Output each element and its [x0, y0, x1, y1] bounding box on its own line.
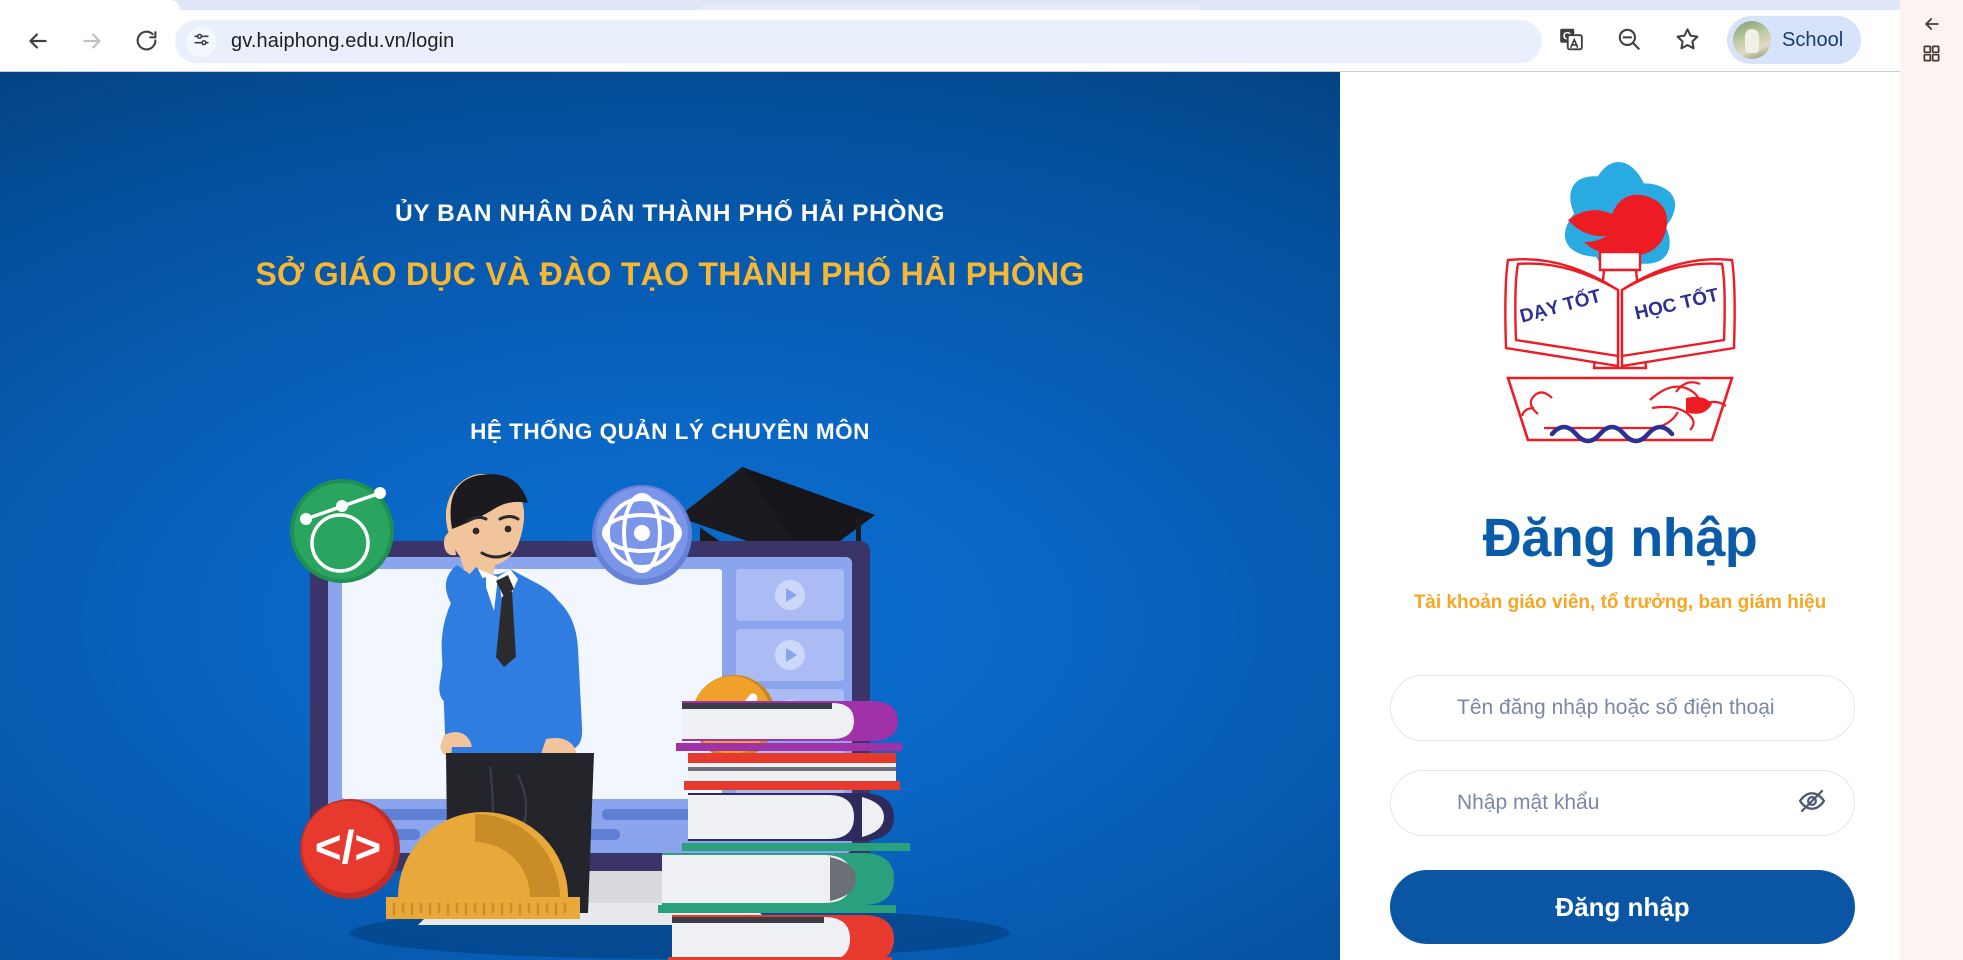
site-info-button[interactable] — [186, 27, 216, 57]
tune-sliders-icon — [192, 30, 211, 54]
username-input[interactable] — [1391, 696, 1854, 720]
profile-button[interactable]: School — [1727, 16, 1861, 64]
apps-grid-icon — [1922, 44, 1941, 68]
hero-panel: ỦY BAN NHÂN DÂN THÀNH PHỐ HẢI PHÒNG SỞ G… — [0, 72, 1340, 960]
tab-strip — [0, 0, 1900, 10]
omnibox-actions: G — [1542, 20, 1716, 63]
side-panel-apps-button[interactable] — [1914, 38, 1950, 74]
arrow-right-icon — [79, 28, 105, 54]
login-submit-button[interactable]: Đăng nhập — [1390, 870, 1855, 944]
zoom-out-button[interactable] — [1607, 20, 1651, 64]
translate-icon: G — [1558, 26, 1584, 57]
address-bar[interactable]: gv.haiphong.edu.vn/login — [175, 20, 1542, 63]
toggle-password-visibility-button[interactable] — [1788, 779, 1836, 827]
bookmark-button[interactable] — [1665, 20, 1709, 64]
arrow-left-icon — [25, 28, 51, 54]
gdhp-emblem: DẠY TỐT HỌC TỐT — [1500, 152, 1740, 452]
password-field-wrapper[interactable] — [1390, 770, 1855, 836]
avatar — [1733, 21, 1771, 59]
eye-off-icon — [1797, 786, 1827, 821]
hero-heading-department: SỞ GIÁO DỤC VÀ ĐÀO TẠO THÀNH PHỐ HẢI PHÒ… — [0, 256, 1340, 293]
browser-side-panel — [1900, 0, 1963, 960]
reload-button[interactable] — [122, 17, 170, 65]
zoom-out-icon — [1616, 26, 1642, 57]
reload-icon — [134, 28, 159, 53]
star-icon — [1674, 26, 1701, 58]
hero-subheading-system: HỆ THỐNG QUẢN LÝ CHUYÊN MÔN — [0, 419, 1340, 445]
browser-tab-active[interactable] — [0, 0, 180, 10]
browser-window: gv.haiphong.edu.vn/login G — [0, 0, 1963, 960]
code-badge: </> — [300, 799, 400, 899]
svg-text:</>: </> — [315, 821, 382, 873]
login-panel: DẠY TỐT HỌC TỐT Đăng nhập Tài khoản giáo… — [1340, 72, 1900, 960]
translate-button[interactable]: G — [1549, 20, 1593, 64]
forward-button[interactable] — [68, 17, 116, 65]
url-text: gv.haiphong.edu.vn/login — [231, 30, 454, 53]
profile-name: School — [1782, 29, 1843, 52]
arrow-left-icon — [1922, 14, 1942, 39]
online-teaching-illustration: </> — [290, 457, 1070, 960]
username-field-wrapper[interactable] — [1390, 675, 1855, 741]
login-subtitle: Tài khoản giáo viên, tổ trưởng, ban giám… — [1340, 592, 1900, 614]
back-button[interactable] — [14, 17, 62, 65]
hero-heading-authority: ỦY BAN NHÂN DÂN THÀNH PHỐ HẢI PHÒNG — [0, 200, 1340, 228]
book-stack — [658, 701, 910, 960]
password-input[interactable] — [1391, 791, 1788, 815]
page-viewport: ỦY BAN NHÂN DÂN THÀNH PHỐ HẢI PHÒNG SỞ G… — [0, 72, 1900, 960]
atom-badge — [592, 485, 692, 585]
page-title: Đăng nhập — [1340, 507, 1900, 569]
graph-node-badge — [290, 479, 394, 583]
